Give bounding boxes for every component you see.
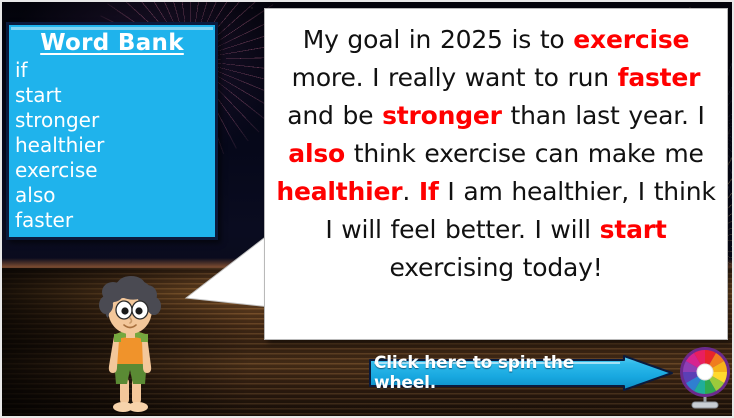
cartoon-boy-avatar — [86, 274, 174, 418]
spin-wheel-banner-button[interactable]: Click here to spin the wheel. — [368, 355, 674, 391]
highlighted-word: also — [288, 139, 345, 168]
right-arrow-banner-icon — [368, 355, 674, 391]
bubble-text-run: and be — [287, 101, 382, 130]
bubble-text-run: think exercise can make me — [345, 139, 704, 168]
bubble-text-run: exercising today! — [389, 253, 602, 282]
bubble-text-run: My goal in 2025 is to — [303, 25, 574, 54]
word-bank-panel: Word Bank ifstartstrongerhealthierexerci… — [6, 22, 218, 240]
highlighted-word: start — [600, 215, 667, 244]
bubble-text-run: more. I really want to run — [292, 63, 618, 92]
highlighted-word: faster — [618, 63, 701, 92]
word-bank-word: exercise — [13, 158, 215, 183]
highlighted-word: If — [419, 177, 439, 206]
word-bank-word: also — [13, 183, 215, 208]
word-bank-word: if — [13, 58, 215, 83]
bubble-text-run: than last year. I — [502, 101, 705, 130]
bubble-text-run: . — [402, 177, 419, 206]
word-bank-word: start — [13, 83, 215, 108]
highlighted-word: healthier — [276, 177, 402, 206]
word-bank-title: Word Bank — [9, 30, 215, 56]
word-bank-word: stronger — [13, 108, 215, 133]
speech-bubble-text: My goal in 2025 is to exercise more. I r… — [265, 9, 727, 287]
slide-stage: Word Bank ifstartstrongerhealthierexerci… — [0, 0, 734, 418]
spinner-wheel-icon[interactable] — [676, 346, 734, 412]
highlighted-word: exercise — [573, 25, 689, 54]
word-bank-list: ifstartstrongerhealthierexercisealsofast… — [13, 58, 215, 233]
highlighted-word: stronger — [382, 101, 502, 130]
word-bank-word: healthier — [13, 133, 215, 158]
speech-bubble: My goal in 2025 is to exercise more. I r… — [264, 8, 728, 340]
